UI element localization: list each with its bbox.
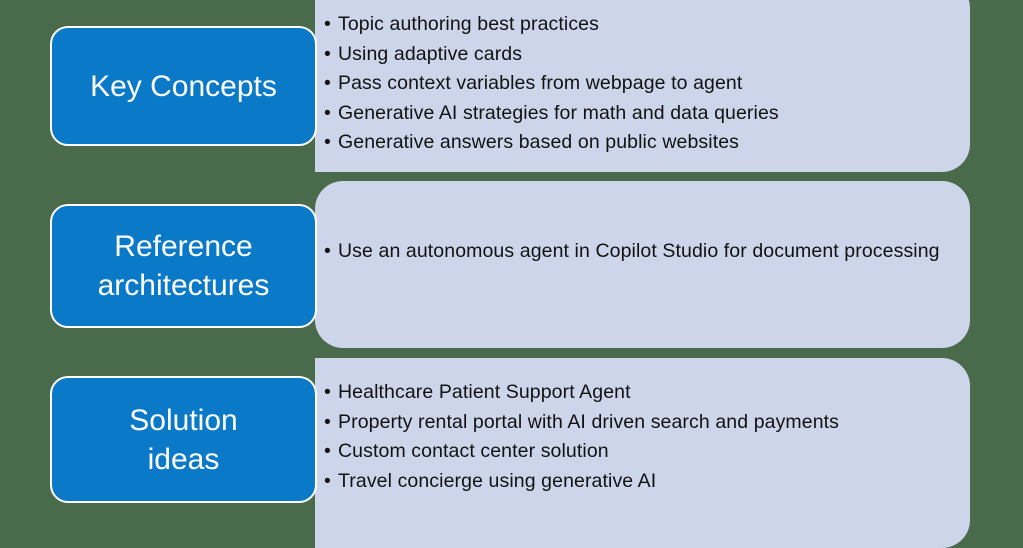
category-label-reference-architectures[interactable]: Reference architectures <box>50 204 317 328</box>
list-item: Custom contact center solution <box>323 437 960 467</box>
list-item: Pass context variables from webpage to a… <box>323 69 960 99</box>
bullet-list-reference-architectures: Use an autonomous agent in Copilot Studi… <box>323 237 960 267</box>
category-label-solution-ideas[interactable]: Solution ideas <box>50 376 317 503</box>
slide-canvas: Topic authoring best practices Using ada… <box>0 0 1023 528</box>
content-panel-reference-architectures: Use an autonomous agent in Copilot Studi… <box>315 181 970 348</box>
content-panel-solution-ideas: Healthcare Patient Support Agent Propert… <box>315 358 970 548</box>
category-label-key-concepts[interactable]: Key Concepts <box>50 26 317 146</box>
list-item: Travel concierge using generative AI <box>323 467 960 497</box>
list-item: Property rental portal with AI driven se… <box>323 408 960 438</box>
bullet-list-solution-ideas: Healthcare Patient Support Agent Propert… <box>323 378 960 496</box>
category-label-text: Key Concepts <box>84 67 283 106</box>
category-label-text: Solution ideas <box>123 401 243 479</box>
category-label-text: Reference architectures <box>92 227 276 305</box>
list-item: Healthcare Patient Support Agent <box>323 378 960 408</box>
bullet-list-key-concepts: Topic authoring best practices Using ada… <box>323 10 960 158</box>
list-item: Generative answers based on public websi… <box>323 128 960 158</box>
list-item: Generative AI strategies for math and da… <box>323 99 960 129</box>
list-item: Using adaptive cards <box>323 40 960 70</box>
content-panel-key-concepts: Topic authoring best practices Using ada… <box>315 0 970 172</box>
list-item: Topic authoring best practices <box>323 10 960 40</box>
list-item: Use an autonomous agent in Copilot Studi… <box>323 237 960 267</box>
